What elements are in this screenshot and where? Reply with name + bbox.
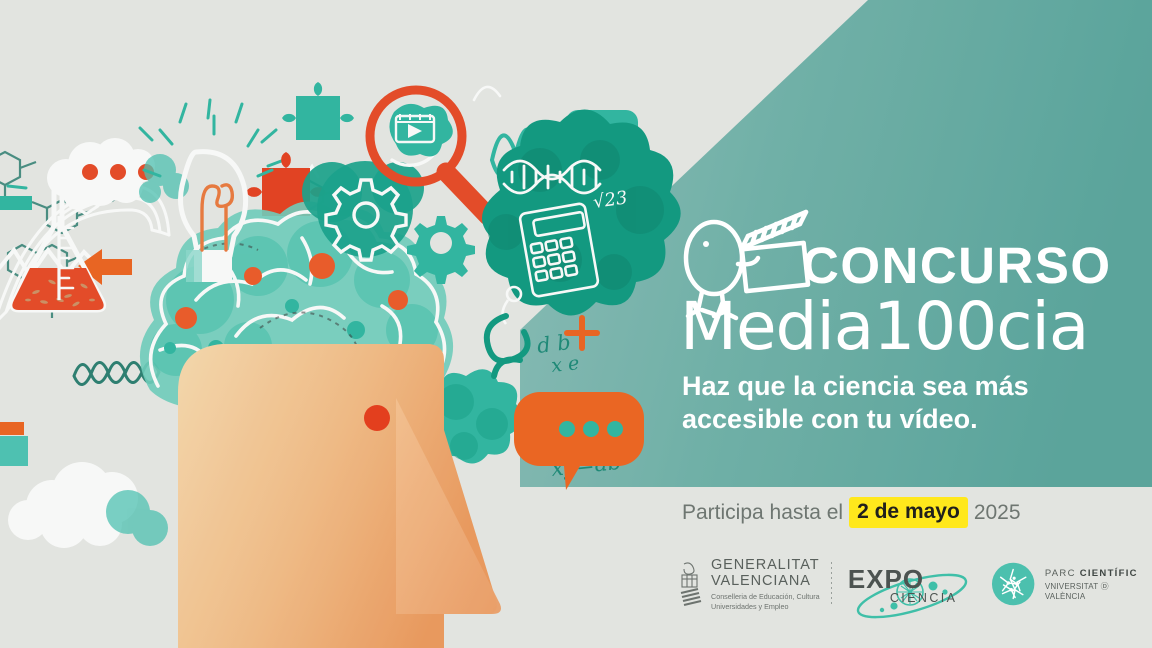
deadline-prefix: Participa hasta el [682, 501, 843, 525]
parc-line1-light: PARC [1045, 568, 1080, 579]
logo-parc-cientific: PARC CIENTÍFIC VNIVERSITAT Ⓓ VALÈNCIA [991, 561, 1148, 607]
logo-bar: GENERALITAT VALENCIANA Conselleria de Ed… [678, 552, 1148, 616]
parc-circle-icon [991, 561, 1035, 607]
logo-generalitat-valenciana: GENERALITAT VALENCIANA Conselleria de Ed… [678, 557, 825, 611]
expo-sub: CIENCIA [890, 591, 958, 605]
bird-eye [703, 241, 709, 247]
deadline-suffix: 2025 [974, 501, 1021, 525]
parc-line1-bold: CIENTÍFIC [1080, 568, 1138, 579]
campaign-heading: CONCURSO [802, 236, 1112, 295]
tagline-text: Haz que la ciencia sea más accesible con… [682, 370, 1042, 436]
poster-canvas: √23 d b x e xy=ab² [0, 0, 1152, 648]
gva-line2: VALENCIANA [711, 573, 820, 589]
deadline-line: Participa hasta el 2 de mayo 2025 [682, 497, 1021, 528]
deadline-highlight: 2 de mayo [849, 497, 968, 528]
parc-line1: PARC CIENTÍFIC [1045, 568, 1148, 579]
logo-divider [831, 562, 832, 606]
gva-subtitle: Conselleria de Educación, Cultura Univer… [711, 592, 820, 611]
campaign-title: Media100cia [680, 288, 1088, 365]
gva-crest-icon [678, 561, 704, 607]
gva-line1: GENERALITAT [711, 557, 820, 573]
logo-expociencia: EXPO CIENCIA [848, 564, 974, 605]
parc-line2: VNIVERSITAT Ⓓ VALÈNCIA [1045, 581, 1148, 601]
